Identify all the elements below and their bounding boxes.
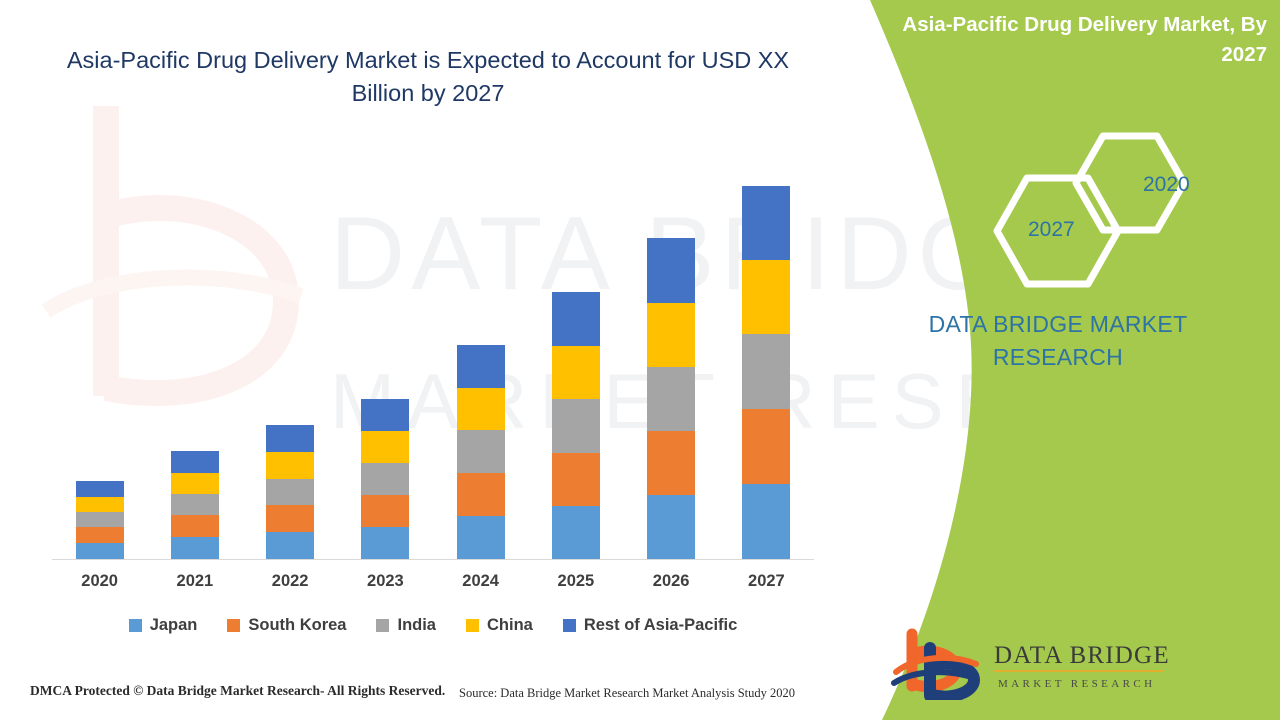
footer-copyright: DMCA Protected © Data Bridge Market Rese… bbox=[30, 683, 445, 699]
bar-segment[interactable] bbox=[742, 186, 790, 260]
stacked-bar[interactable] bbox=[361, 399, 409, 559]
x-axis-tick: 2024 bbox=[433, 572, 528, 591]
hexagon-label-2020: 2020 bbox=[1143, 173, 1190, 197]
hexagon-label-2027: 2027 bbox=[1028, 218, 1075, 242]
bar-segment[interactable] bbox=[457, 388, 505, 430]
bar-segment[interactable] bbox=[457, 430, 505, 473]
bar-segment[interactable] bbox=[361, 527, 409, 559]
bar-slot bbox=[147, 150, 242, 559]
chart-baseline bbox=[52, 559, 814, 560]
stacked-bar[interactable] bbox=[76, 481, 124, 559]
hexagon-graphic: 2020 2027 bbox=[975, 128, 1205, 293]
bar-segment[interactable] bbox=[266, 532, 314, 559]
bar-segment[interactable] bbox=[647, 431, 695, 495]
x-axis-tick-labels: 20202021202220232024202520262027 bbox=[52, 572, 814, 591]
legend-swatch-icon bbox=[227, 619, 240, 632]
stacked-bar[interactable] bbox=[647, 238, 695, 559]
bar-slot bbox=[52, 150, 147, 559]
bar-segment[interactable] bbox=[76, 497, 124, 512]
legend-item[interactable]: Rest of Asia-Pacific bbox=[563, 616, 737, 635]
bar-slot bbox=[433, 150, 528, 559]
legend-label: India bbox=[397, 616, 436, 635]
bar-segment[interactable] bbox=[361, 399, 409, 431]
stacked-bar[interactable] bbox=[171, 451, 219, 559]
bar-segment[interactable] bbox=[552, 292, 600, 346]
infographic-root: DATA BRIDGE MARKET RESEARCH Asia-Pacific… bbox=[0, 0, 1280, 720]
brand-name: DATA BRIDGE MARKET RESEARCH bbox=[870, 308, 1246, 373]
bar-group bbox=[52, 150, 814, 559]
bar-segment[interactable] bbox=[76, 512, 124, 527]
x-axis-tick: 2025 bbox=[528, 572, 623, 591]
panel-title: Asia-Pacific Drug Delivery Market, By 20… bbox=[857, 10, 1267, 69]
chart-legend: JapanSouth KoreaIndiaChinaRest of Asia-P… bbox=[52, 616, 814, 635]
bar-segment[interactable] bbox=[647, 238, 695, 303]
legend-label: Japan bbox=[150, 616, 198, 635]
bar-segment[interactable] bbox=[266, 479, 314, 505]
bar-segment[interactable] bbox=[171, 494, 219, 515]
legend-swatch-icon bbox=[563, 619, 576, 632]
bar-slot bbox=[719, 150, 814, 559]
bar-segment[interactable] bbox=[552, 399, 600, 453]
legend-label: Rest of Asia-Pacific bbox=[584, 616, 737, 635]
x-axis-tick: 2020 bbox=[52, 572, 147, 591]
stacked-bar[interactable] bbox=[266, 425, 314, 559]
data-bridge-logo: DATA BRIDGE MARKET RESEARCH bbox=[890, 628, 1170, 700]
x-axis-tick: 2023 bbox=[338, 572, 433, 591]
bar-segment[interactable] bbox=[457, 345, 505, 388]
bar-segment[interactable] bbox=[171, 473, 219, 494]
bar-segment[interactable] bbox=[171, 537, 219, 559]
logo-wordmark: DATA BRIDGE bbox=[994, 642, 1170, 669]
bar-segment[interactable] bbox=[742, 334, 790, 409]
brand-line-2: RESEARCH bbox=[870, 341, 1246, 374]
bar-segment[interactable] bbox=[457, 516, 505, 559]
bar-segment[interactable] bbox=[742, 260, 790, 334]
bar-segment[interactable] bbox=[552, 346, 600, 399]
bar-segment[interactable] bbox=[647, 303, 695, 367]
bar-slot bbox=[338, 150, 433, 559]
bar-segment[interactable] bbox=[76, 527, 124, 543]
stacked-bar[interactable] bbox=[457, 345, 505, 559]
bar-segment[interactable] bbox=[76, 481, 124, 497]
bar-segment[interactable] bbox=[361, 495, 409, 527]
page-title: Asia-Pacific Drug Delivery Market is Exp… bbox=[58, 44, 798, 111]
bar-slot bbox=[243, 150, 338, 559]
chart-plot-area bbox=[52, 150, 814, 560]
bar-segment[interactable] bbox=[647, 495, 695, 559]
brand-line-1: DATA BRIDGE MARKET bbox=[870, 308, 1246, 341]
bar-segment[interactable] bbox=[552, 453, 600, 506]
bar-segment[interactable] bbox=[266, 425, 314, 452]
green-panel-content: Asia-Pacific Drug Delivery Market, By 20… bbox=[830, 0, 1280, 720]
x-axis-tick: 2022 bbox=[243, 572, 338, 591]
bar-segment[interactable] bbox=[742, 409, 790, 484]
stacked-bar[interactable] bbox=[552, 292, 600, 559]
x-axis-tick: 2027 bbox=[719, 572, 814, 591]
legend-swatch-icon bbox=[466, 619, 479, 632]
bar-segment[interactable] bbox=[266, 452, 314, 479]
bar-segment[interactable] bbox=[76, 543, 124, 559]
legend-item[interactable]: China bbox=[466, 616, 533, 635]
bar-segment[interactable] bbox=[361, 431, 409, 463]
bar-slot bbox=[528, 150, 623, 559]
legend-label: South Korea bbox=[248, 616, 346, 635]
logo-tagline: MARKET RESEARCH bbox=[998, 678, 1155, 690]
legend-label: China bbox=[487, 616, 533, 635]
bar-segment[interactable] bbox=[361, 463, 409, 495]
bar-slot bbox=[624, 150, 719, 559]
legend-swatch-icon bbox=[129, 619, 142, 632]
footer-source: Source: Data Bridge Market Research Mark… bbox=[459, 686, 795, 701]
bar-segment[interactable] bbox=[647, 367, 695, 431]
bar-segment[interactable] bbox=[742, 484, 790, 559]
legend-swatch-icon bbox=[376, 619, 389, 632]
legend-item[interactable]: India bbox=[376, 616, 436, 635]
bar-segment[interactable] bbox=[552, 506, 600, 559]
legend-item[interactable]: South Korea bbox=[227, 616, 346, 635]
bar-segment[interactable] bbox=[266, 505, 314, 532]
bar-segment[interactable] bbox=[457, 473, 505, 516]
bar-segment[interactable] bbox=[171, 451, 219, 473]
legend-item[interactable]: Japan bbox=[129, 616, 198, 635]
x-axis-tick: 2021 bbox=[147, 572, 242, 591]
bar-segment[interactable] bbox=[171, 515, 219, 537]
x-axis-tick: 2026 bbox=[624, 572, 719, 591]
stacked-bar[interactable] bbox=[742, 186, 790, 559]
